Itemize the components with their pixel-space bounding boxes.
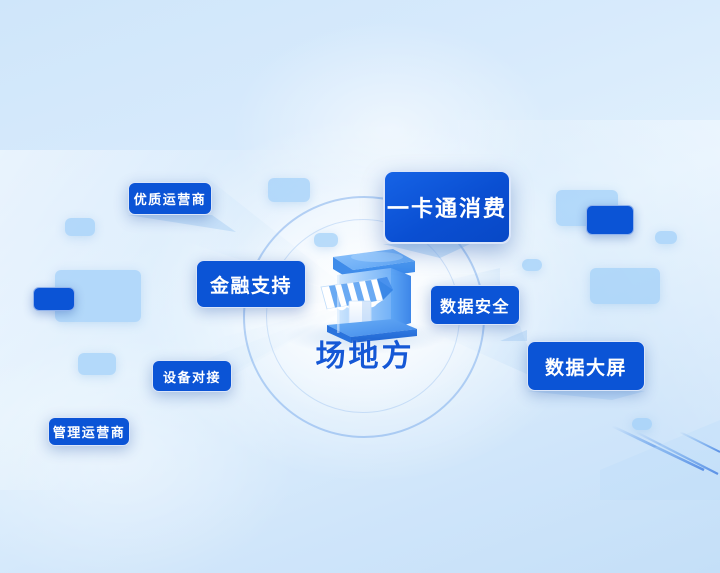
card-label: 优质运营商 (134, 189, 207, 208)
card-jinrong-zhichi[interactable]: 金融支持 (196, 260, 306, 308)
decor-rect-soft-6 (556, 190, 618, 226)
decor-rect-soft-2 (55, 270, 141, 322)
card-label: 金融支持 (210, 271, 292, 298)
card-label: 数据大屏 (545, 353, 627, 380)
decor-rect-solid-2 (586, 205, 634, 235)
decor-rect-soft-8 (522, 259, 542, 271)
infographic-canvas: 场地方 一卡通消费 金融支持 数据大屏 数据安全 优质运营商 设备对接 管理运营… (0, 0, 720, 573)
card-shuju-daping[interactable]: 数据大屏 (527, 341, 645, 391)
card-label: 数据安全 (440, 293, 510, 317)
decor-rect-soft-3 (78, 353, 116, 375)
card-shebei-duijie[interactable]: 设备对接 (152, 360, 232, 392)
card-yikatong-xiaofei[interactable]: 一卡通消费 (383, 170, 511, 244)
card-guanli-yunyingshang[interactable]: 管理运营商 (48, 417, 130, 446)
decor-rect-soft-4 (268, 178, 310, 202)
card-label: 一卡通消费 (387, 191, 507, 223)
card-shuju-anquan[interactable]: 数据安全 (430, 285, 520, 325)
shop-icon (307, 243, 423, 343)
decor-rect-solid-1 (33, 287, 75, 311)
card-label: 设备对接 (163, 367, 221, 386)
decor-rect-soft-9 (590, 268, 660, 304)
decor-rect-soft-7 (655, 231, 677, 244)
card-youzhi-yunyingshang[interactable]: 优质运营商 (128, 182, 212, 215)
card-label: 管理运营商 (53, 422, 126, 441)
decor-rect-soft-1 (65, 218, 95, 236)
center-label: 场地方 (253, 331, 477, 375)
decor-rect-soft-10 (632, 418, 652, 430)
